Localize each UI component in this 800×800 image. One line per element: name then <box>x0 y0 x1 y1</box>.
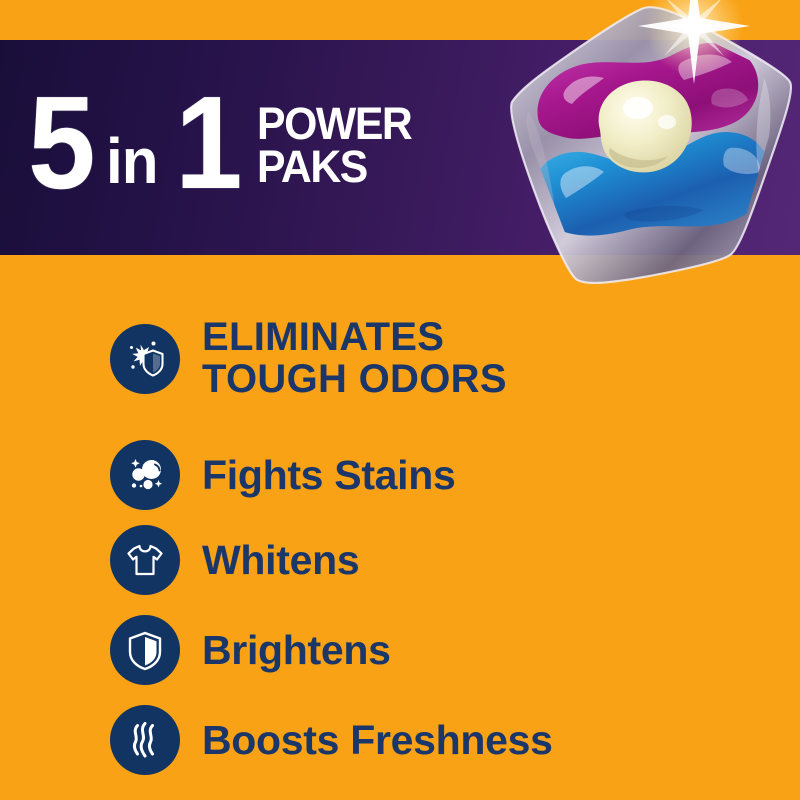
feature-label-fights-stains: Fights Stains <box>202 455 456 496</box>
germ-shield-icon <box>110 324 180 394</box>
feature-label-brightens: Brightens <box>202 630 391 671</box>
feature-label-whitens: Whitens <box>202 540 359 581</box>
product-line-word-paks: PAKS <box>257 146 411 188</box>
product-line-word-power: POWER <box>257 103 411 145</box>
feature-row-boosts-freshness: Boosts Freshness <box>110 705 553 775</box>
freshness-waves-icon <box>110 705 180 775</box>
product-feature-graphic: 5 in 1 POWER PAKS <box>0 0 800 800</box>
feature-label-eliminates-tough-odors: ELIMINATES TOUGH ODORS <box>202 317 507 400</box>
feature-label-line-2: TOUGH ODORS <box>202 359 507 401</box>
feature-row-whitens: Whitens <box>110 525 359 595</box>
count-5: 5 <box>28 90 91 196</box>
tshirt-icon <box>110 525 180 595</box>
shield-icon <box>110 615 180 685</box>
feature-row-eliminates-tough-odors: ELIMINATES TOUGH ODORS <box>110 317 507 400</box>
feature-row-brightens: Brightens <box>110 615 391 685</box>
feature-row-fights-stains: Fights Stains <box>110 440 456 510</box>
feature-label-boosts-freshness: Boosts Freshness <box>202 720 553 761</box>
feature-label-line-1: ELIMINATES <box>202 317 507 359</box>
count-1: 1 <box>175 90 235 196</box>
detergent-pod-image <box>468 0 800 322</box>
connector-in: in <box>106 136 158 187</box>
feature-list: ELIMINATES TOUGH ODORS <box>0 255 800 800</box>
bubbles-sparkle-icon <box>110 440 180 510</box>
hero-headline: 5 in 1 POWER PAKS <box>28 90 419 196</box>
product-line-name: POWER PAKS <box>257 103 420 188</box>
